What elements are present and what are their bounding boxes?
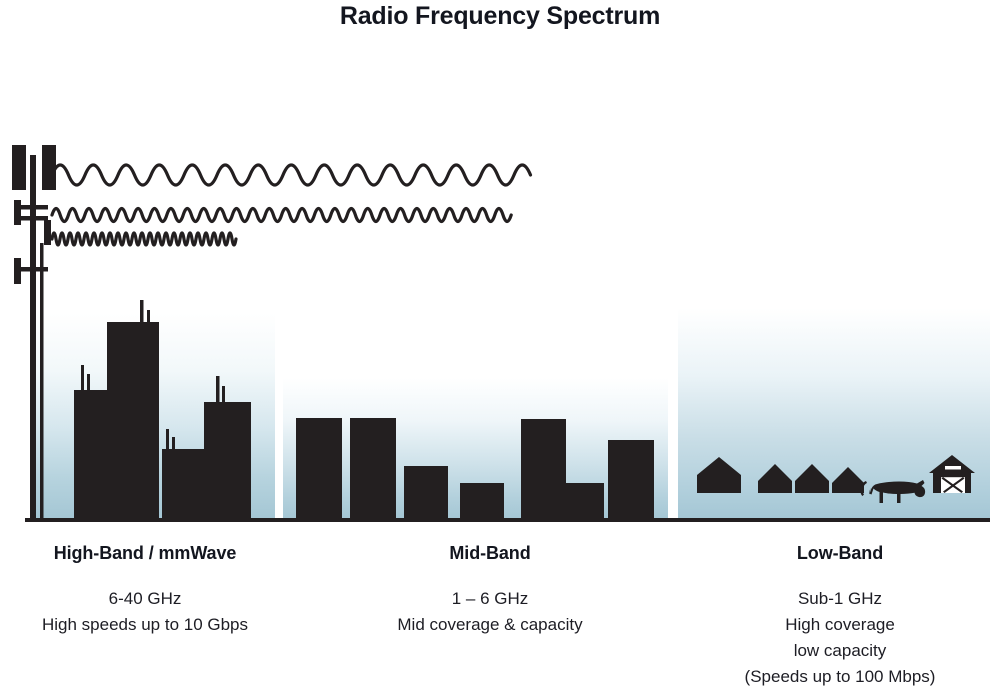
band-title-low: Low-Band [695, 543, 985, 564]
band-frequency-high: 6-40 GHz [0, 586, 290, 612]
band-description-mid: Mid coverage & capacity [345, 612, 635, 638]
caption-high-band: High-Band / mmWave 6-40 GHz High speeds … [0, 543, 290, 638]
caption-mid-band: Mid-Band 1 – 6 GHz Mid coverage & capaci… [345, 543, 635, 638]
building [521, 419, 566, 520]
low-frequency-wave [52, 165, 531, 185]
ground-line [25, 518, 990, 522]
band-speed-low: (Speeds up to 100 Mbps) [695, 664, 985, 690]
building [350, 418, 396, 520]
skyscraper-icon [74, 390, 107, 520]
skyscraper-icon [162, 449, 204, 520]
caption-low-band: Low-Band Sub-1 GHz High coverage low cap… [695, 543, 985, 690]
spire [216, 376, 220, 406]
radio-waves [52, 165, 531, 245]
building [404, 466, 448, 520]
band-title-high: High-Band / mmWave [0, 543, 290, 564]
band-description-high: High speeds up to 10 Gbps [0, 612, 290, 638]
band-title-mid: Mid-Band [345, 543, 635, 564]
band-frequency-low: Sub-1 GHz [695, 586, 985, 612]
building [296, 418, 342, 520]
skyscraper-icon [204, 402, 251, 520]
band-frequency-mid: 1 – 6 GHz [345, 586, 635, 612]
high-frequency-wave [52, 233, 236, 245]
building [608, 440, 654, 520]
infographic-canvas: Radio Frequency Spectrum [0, 0, 1000, 700]
band-capacity-low: low capacity [695, 638, 985, 664]
mid-frequency-wave [52, 209, 511, 222]
building [460, 483, 504, 520]
band-captions: High-Band / mmWave 6-40 GHz High speeds … [0, 543, 1000, 700]
band-coverage-low: High coverage [695, 612, 985, 638]
skyscraper-icon [107, 322, 159, 520]
building [566, 483, 604, 520]
